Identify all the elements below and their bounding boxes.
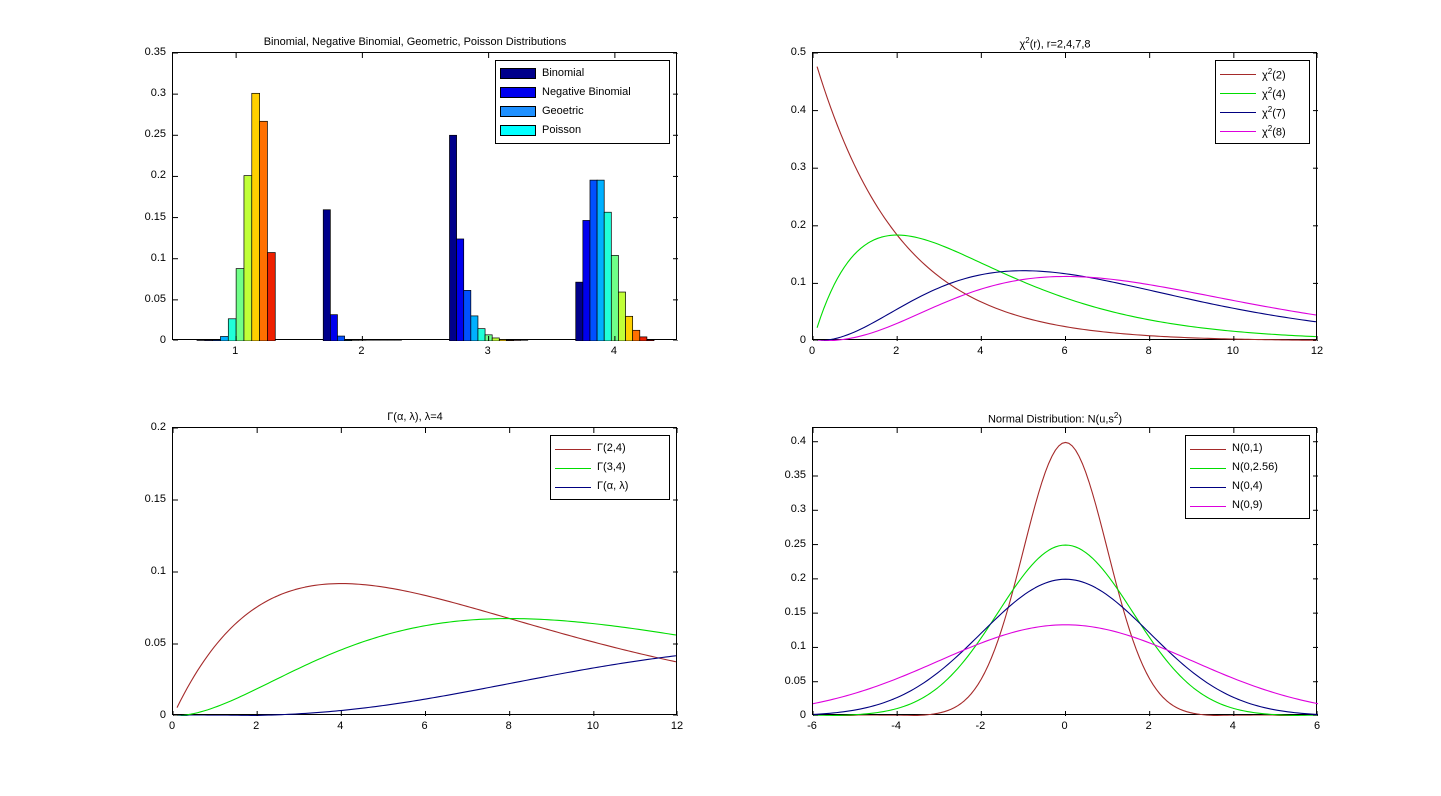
y-tick-label: 0.15: [112, 493, 166, 505]
chisq-chart-title: χ2(r), r=2,4,7,8: [790, 36, 1320, 51]
chisq-series-3: [817, 276, 1315, 341]
x-tick-label: 8: [506, 720, 512, 732]
chisq-title-rest: (r), r=2,4,7,8: [1030, 39, 1091, 51]
x-tick-label: 4: [611, 345, 617, 357]
bar-group-2-bar-3: [345, 340, 352, 341]
bar-group-1-bar-9: [267, 253, 275, 341]
y-tick-label: 0.05: [112, 293, 166, 305]
bar-group-2-bar-0: [323, 210, 330, 341]
bar-group-4-bar-4: [604, 212, 611, 341]
normal-legend[interactable]: N(0,1)N(0,2.56)N(0,4)N(0,9): [1185, 435, 1310, 519]
legend-item-0[interactable]: χ2(2): [1220, 64, 1305, 83]
legend-line-icon: [1220, 106, 1256, 117]
y-tick-label: 0.1: [112, 252, 166, 264]
x-tick-label: 2: [1146, 720, 1152, 732]
bar-group-1-bar-6: [244, 176, 252, 341]
y-tick-label: 0.35: [112, 46, 166, 58]
legend-item-1[interactable]: N(0,2.56): [1190, 458, 1305, 477]
legend-swatch-icon: [500, 106, 536, 117]
bar-group-4-bar-0: [576, 282, 583, 341]
panel-normal: Normal Distribution: N(u,s2) 00.050.10.1…: [790, 405, 1320, 735]
x-tick-label: -6: [807, 720, 817, 732]
x-tick-label: 4: [977, 345, 983, 357]
legend-item-0[interactable]: Γ(2,4): [555, 439, 665, 458]
y-tick-label: 0.4: [752, 435, 806, 447]
bar-group-4-bar-1: [583, 220, 590, 341]
y-tick-label: 0.3: [112, 87, 166, 99]
y-tick-label: 0.1: [752, 640, 806, 652]
legend-line-icon: [555, 462, 591, 473]
legend-item-3[interactable]: Poisson: [500, 121, 665, 140]
legend-swatch-icon: [500, 68, 536, 79]
legend-line-icon: [1220, 87, 1256, 98]
y-tick-label: 0: [752, 334, 806, 346]
y-tick-label: 0.2: [752, 572, 806, 584]
bar-group-4-bar-10: [647, 340, 654, 341]
gamma-chart-title: Γ(α, λ), λ=4: [150, 411, 680, 423]
legend-label: N(0,9): [1232, 500, 1263, 511]
legend-line-icon: [1190, 481, 1226, 492]
legend-label-suffix: (8): [1272, 126, 1285, 138]
y-tick-label: 0.3: [752, 503, 806, 515]
gamma-legend[interactable]: Γ(2,4)Γ(3,4)Γ(α, λ): [550, 435, 670, 500]
y-tick-label: 0.1: [112, 565, 166, 577]
legend-line-icon: [1190, 443, 1226, 454]
chisq-series-1: [817, 235, 1315, 337]
bar-group-1-bar-7: [252, 93, 260, 341]
legend-label: χ2(8): [1262, 123, 1286, 139]
bar-group-1-bar-1: [205, 340, 213, 341]
bar-group-4-bar-7: [626, 316, 633, 341]
y-tick-label: 0.4: [752, 104, 806, 116]
x-tick-label: 2: [253, 720, 259, 732]
x-tick-label: 8: [1146, 345, 1152, 357]
normal-series-2: [813, 579, 1318, 714]
legend-label: Binomial: [542, 68, 584, 79]
bar-group-3-bar-8: [506, 340, 513, 341]
bar-group-1-bar-2: [213, 340, 221, 341]
x-tick-label: -2: [975, 720, 985, 732]
bar-group-3-bar-1: [457, 239, 464, 341]
x-tick-label: 4: [337, 720, 343, 732]
panel-gamma: Γ(α, λ), λ=4 00.050.10.150.2024681012 Γ(…: [150, 405, 680, 735]
chisq-legend[interactable]: χ2(2)χ2(4)χ2(7)χ2(8): [1215, 60, 1310, 144]
y-tick-label: 0.3: [752, 161, 806, 173]
legend-line-icon: [1220, 125, 1256, 136]
legend-item-3[interactable]: χ2(8): [1220, 121, 1305, 140]
legend-label-suffix: (2): [1272, 69, 1285, 81]
chisq-series-2: [817, 271, 1315, 341]
legend-label: N(0,1): [1232, 443, 1263, 454]
x-tick-label: 2: [893, 345, 899, 357]
bar-group-1-bar-5: [236, 269, 244, 341]
x-tick-label: 2: [358, 345, 364, 357]
x-tick-label: 10: [587, 720, 599, 732]
y-tick-label: 0.15: [752, 606, 806, 618]
bar-group-2-bar-2: [337, 336, 344, 341]
x-tick-label: 1: [232, 345, 238, 357]
discrete-chart-title: Binomial, Negative Binomial, Geometric, …: [150, 36, 680, 48]
y-tick-label: 0: [112, 334, 166, 346]
y-tick-label: 0.5: [752, 46, 806, 58]
bar-group-1-bar-3: [220, 336, 228, 341]
y-tick-label: 0.2: [112, 421, 166, 433]
x-tick-label: 12: [671, 720, 683, 732]
panel-chi-square: χ2(r), r=2,4,7,8 00.10.20.30.40.50246810…: [790, 30, 1320, 360]
bar-group-3-bar-0: [449, 135, 456, 341]
legend-label: N(0,2.56): [1232, 462, 1278, 473]
discrete-legend[interactable]: BinomialNegative BinomialGeoetricPoisson: [495, 60, 670, 144]
x-tick-label: 12: [1311, 345, 1323, 357]
legend-label: N(0,4): [1232, 481, 1263, 492]
bar-group-3-bar-3: [471, 316, 478, 341]
bar-group-3-bar-7: [499, 340, 506, 341]
legend-label-suffix: (4): [1272, 88, 1285, 100]
x-tick-label: 6: [1314, 720, 1320, 732]
x-tick-label: 3: [485, 345, 491, 357]
legend-label-suffix: (7): [1272, 107, 1285, 119]
legend-item-0[interactable]: N(0,1): [1190, 439, 1305, 458]
legend-line-icon: [1190, 462, 1226, 473]
matlab-figure-canvas: Binomial, Negative Binomial, Geometric, …: [0, 0, 1441, 796]
x-tick-label: 0: [1061, 720, 1067, 732]
legend-item-0[interactable]: Binomial: [500, 64, 665, 83]
bar-group-3-bar-2: [464, 290, 471, 341]
bar-group-4-bar-5: [611, 255, 618, 341]
legend-item-2[interactable]: χ2(7): [1220, 102, 1305, 121]
legend-label: χ2(2): [1262, 66, 1286, 82]
y-tick-label: 0.1: [752, 276, 806, 288]
legend-label: Γ(α, λ): [597, 481, 628, 492]
bar-group-1-bar-8: [260, 121, 268, 341]
bar-group-4-bar-6: [618, 292, 625, 341]
y-tick-label: 0.2: [752, 219, 806, 231]
y-tick-label: 0.35: [752, 469, 806, 481]
x-tick-label: 0: [809, 345, 815, 357]
bar-group-4-bar-8: [633, 330, 640, 341]
gamma-series-0: [177, 584, 675, 708]
bar-group-4-bar-3: [597, 180, 604, 341]
legend-label: χ2(7): [1262, 104, 1286, 120]
legend-item-3[interactable]: N(0,9): [1190, 496, 1305, 515]
legend-label: Geoetric: [542, 106, 584, 117]
y-tick-label: 0.25: [112, 128, 166, 140]
legend-label: Negative Binomial: [542, 87, 631, 98]
y-tick-label: 0.25: [752, 538, 806, 550]
y-tick-label: 0.05: [112, 637, 166, 649]
legend-item-1[interactable]: Negative Binomial: [500, 83, 665, 102]
bar-group-3-bar-4: [478, 329, 485, 341]
legend-item-2[interactable]: Geoetric: [500, 102, 665, 121]
legend-line-icon: [555, 443, 591, 454]
legend-label: Γ(3,4): [597, 462, 626, 473]
legend-line-icon: [1220, 68, 1256, 79]
normal-title-main: Normal Distribution: N(u,s: [988, 414, 1114, 426]
legend-label: χ2(4): [1262, 85, 1286, 101]
x-tick-label: 0: [169, 720, 175, 732]
panel-discrete-distributions: Binomial, Negative Binomial, Geometric, …: [150, 30, 680, 360]
legend-item-1[interactable]: Γ(3,4): [555, 458, 665, 477]
legend-line-icon: [555, 481, 591, 492]
legend-item-1[interactable]: χ2(4): [1220, 83, 1305, 102]
legend-item-2[interactable]: N(0,4): [1190, 477, 1305, 496]
bar-group-4-bar-9: [640, 337, 647, 341]
y-tick-label: 0.2: [112, 169, 166, 181]
bar-group-3-bar-6: [492, 338, 499, 341]
normal-series-1: [813, 545, 1318, 716]
normal-chart-title: Normal Distribution: N(u,s2): [790, 411, 1320, 426]
y-tick-label: 0.05: [752, 675, 806, 687]
gamma-series-2: [177, 656, 675, 716]
legend-label: Poisson: [542, 125, 581, 136]
legend-swatch-icon: [500, 87, 536, 98]
x-tick-label: 6: [1061, 345, 1067, 357]
legend-label: Γ(2,4): [597, 443, 626, 454]
normal-series-3: [813, 625, 1318, 704]
bar-group-4-bar-2: [590, 180, 597, 341]
legend-line-icon: [1190, 500, 1226, 511]
normal-title-close: ): [1118, 414, 1122, 426]
y-tick-label: 0: [112, 709, 166, 721]
y-tick-label: 0: [752, 709, 806, 721]
x-tick-label: 4: [1230, 720, 1236, 732]
y-tick-label: 0.15: [112, 211, 166, 223]
legend-swatch-icon: [500, 125, 536, 136]
x-tick-label: 6: [421, 720, 427, 732]
x-tick-label: -4: [891, 720, 901, 732]
x-tick-label: 10: [1227, 345, 1239, 357]
bar-group-2-bar-1: [330, 315, 337, 341]
legend-item-2[interactable]: Γ(α, λ): [555, 477, 665, 496]
bar-group-1-bar-4: [228, 319, 236, 341]
